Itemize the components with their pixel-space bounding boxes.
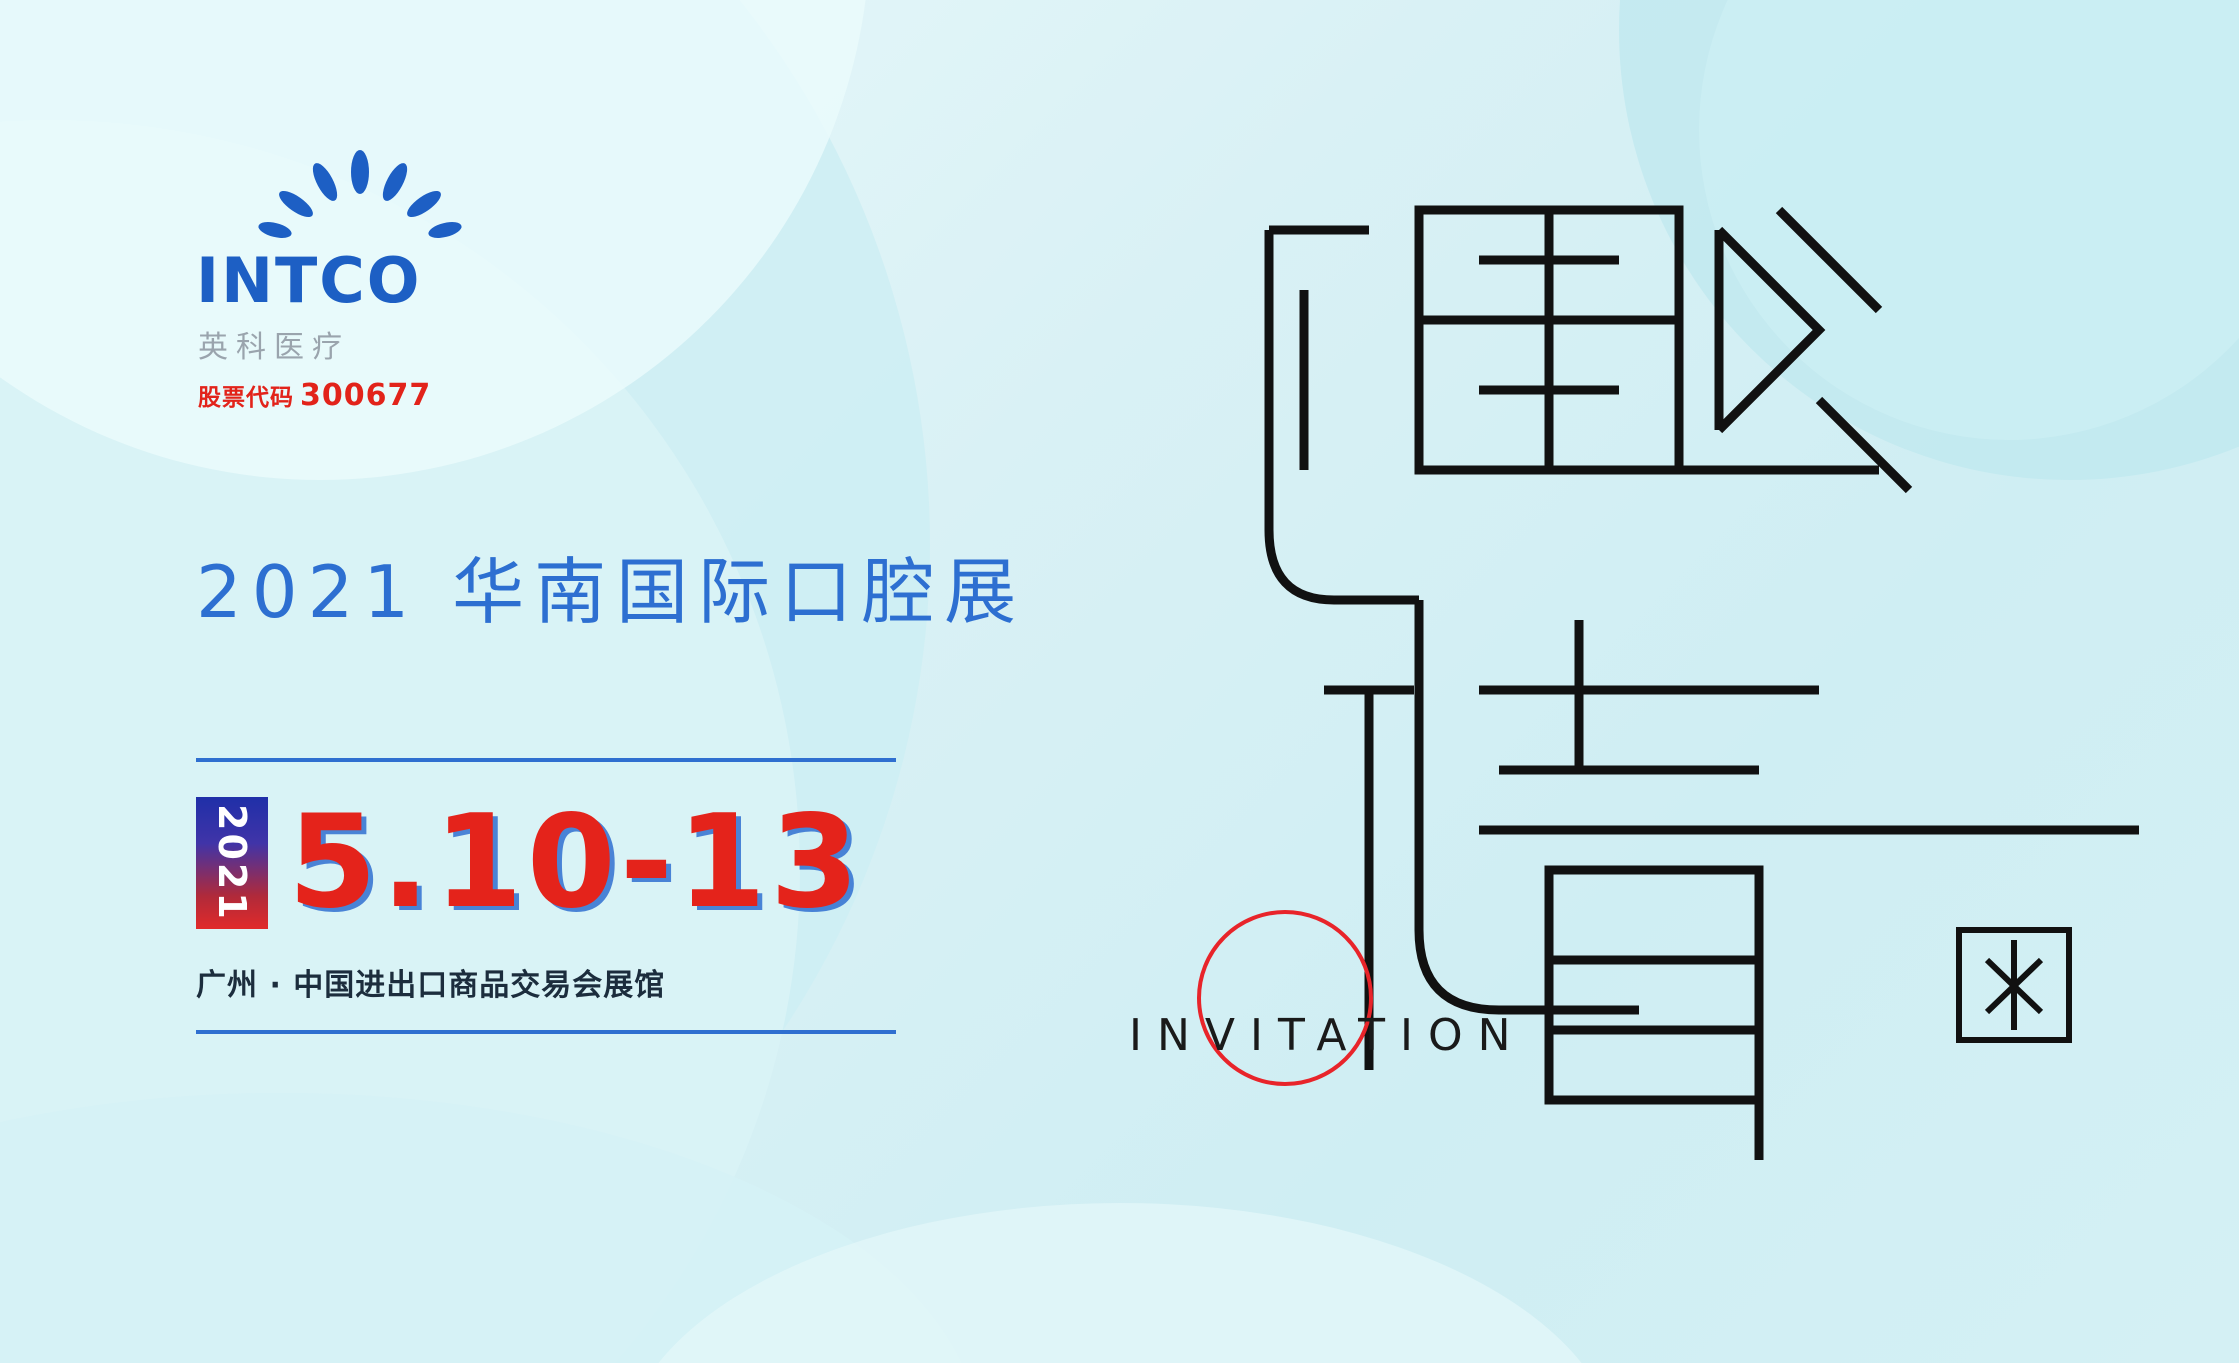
logo-wordmark: INTCO xyxy=(196,250,456,312)
stock-code-line: 股票代码300677 xyxy=(198,378,456,413)
invitation-poster: INTCO 英科医疗 股票代码300677 2021 华南国际口腔展 2021 … xyxy=(0,0,2239,1363)
event-title: 2021 华南国际口腔展 xyxy=(196,533,1096,638)
stock-code-value: 300677 xyxy=(300,378,431,413)
invitation-latin-word: INVITATION xyxy=(1129,1010,1526,1061)
background-blob-bottom xyxy=(0,1093,980,1363)
left-content-column: INTCO 英科医疗 股票代码300677 2021 华南国际口腔展 2021 … xyxy=(196,150,1096,1034)
year-chip: 2021 xyxy=(196,797,268,929)
stock-code-label: 股票代码 xyxy=(198,385,294,411)
date-block: 2021 5.10-13 广州 · 中国进出口商品交易会展馆 xyxy=(196,758,896,1034)
divider-top xyxy=(196,758,896,762)
date-range: 5.10-13 xyxy=(288,799,863,927)
logo-chinese-name: 英科医疗 xyxy=(198,322,456,366)
burst-icon xyxy=(242,150,482,248)
divider-bottom xyxy=(196,1030,896,1034)
venue-text: 广州 · 中国进出口商品交易会展馆 xyxy=(196,960,896,1004)
background-blob-bottom-right xyxy=(620,1203,1620,1363)
year-chip-label: 2021 xyxy=(213,804,251,922)
invitation-artwork: INVITATION xyxy=(1119,170,2179,1170)
brand-logo: INTCO 英科医疗 股票代码300677 xyxy=(196,150,456,413)
date-row: 2021 5.10-13 xyxy=(196,788,896,938)
